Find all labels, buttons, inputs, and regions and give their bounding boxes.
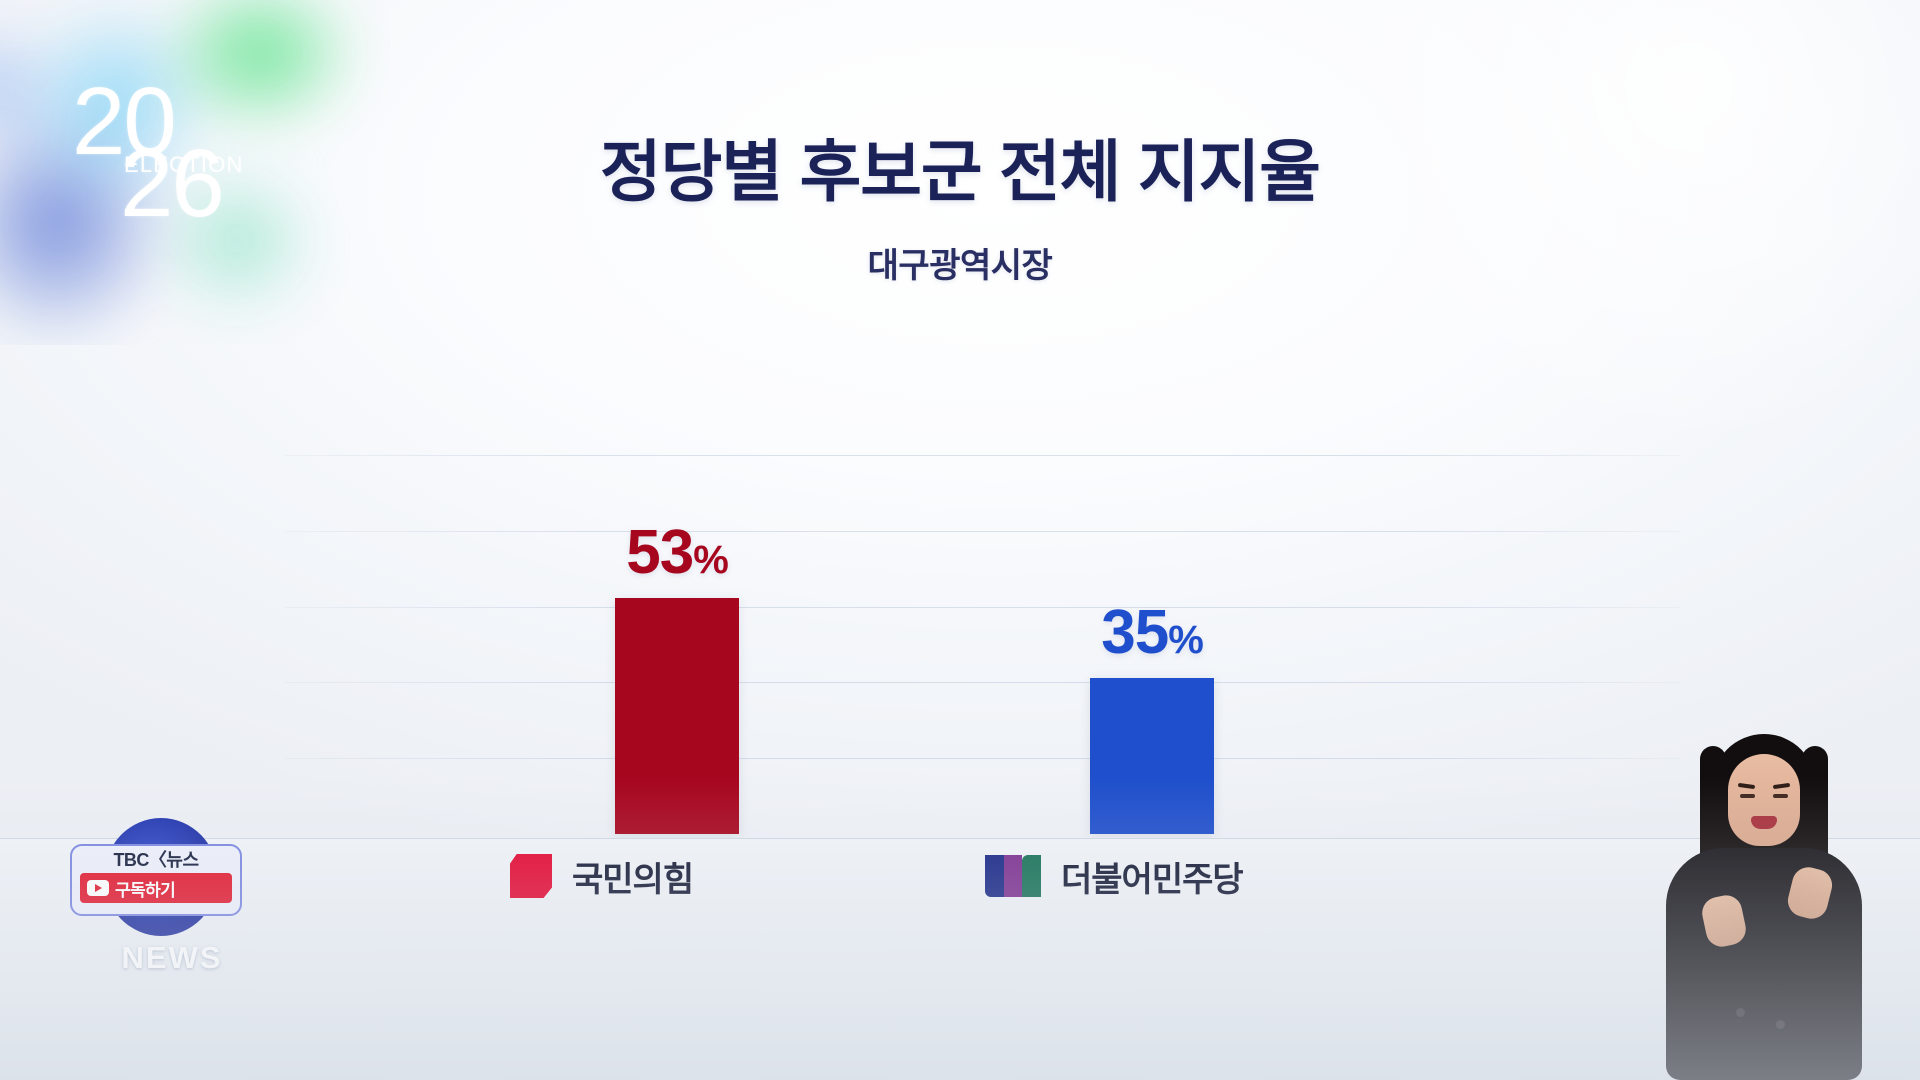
bar-value-label-ppp: 53% — [626, 522, 728, 584]
tbc-subscribe-card[interactable]: TBC〈뉴스 구독하기 — [70, 844, 242, 916]
legend-label-ppp: 국민의힘 — [572, 852, 693, 901]
chart-plot-area: 53% 35% — [285, 388, 1680, 834]
gridline — [285, 682, 1680, 683]
interpreter-torso — [1666, 848, 1862, 1080]
bar-column-dp — [1090, 678, 1214, 834]
legend-item-people-power-party: 국민의힘 — [510, 852, 693, 900]
news-label: NEWS — [62, 940, 282, 976]
sign-language-interpreter — [1646, 720, 1882, 1080]
gridline — [285, 607, 1680, 608]
dp-flag-stripe-purple — [1004, 855, 1023, 897]
gridline — [285, 758, 1680, 759]
dp-flag-stripe-blue — [985, 855, 1004, 897]
interpreter-eye-right — [1773, 794, 1788, 798]
chart-legend: 국민의힘 더불어민주당 — [285, 852, 1680, 912]
bar-column-ppp — [615, 598, 739, 834]
interpreter-button-two — [1776, 1020, 1785, 1029]
bar-value-label-dp: 35% — [1101, 602, 1203, 664]
broadcast-graphic-stage: 20 ELECTION 26 정당별 후보군 전체 지지율 대구광역시장 53%… — [0, 0, 1920, 1080]
ppp-party-logo-icon — [510, 854, 552, 898]
tbc-brand-label: TBC〈뉴스 — [80, 851, 232, 869]
dp-flag-stripe-green — [1022, 855, 1041, 897]
subscribe-label: 구독하기 — [115, 876, 175, 901]
interpreter-button-one — [1736, 1008, 1745, 1017]
legend-label-dp: 더불어민주당 — [1061, 852, 1243, 901]
chart-subtitle: 대구광역시장 — [0, 238, 1920, 287]
youtube-subscribe-button[interactable]: 구독하기 — [80, 873, 232, 903]
interpreter-eye-left — [1740, 794, 1755, 798]
legend-item-democratic-party: 더불어민주당 — [985, 852, 1243, 900]
gridline — [285, 455, 1680, 456]
interpreter-brow-right — [1773, 783, 1790, 789]
youtube-play-icon — [87, 880, 109, 896]
interpreter-face — [1728, 754, 1800, 846]
dp-party-logo-icon — [985, 855, 1041, 897]
gridline — [285, 531, 1680, 532]
tbc-news-watermark: TBC〈뉴스 구독하기 NEWS — [62, 812, 282, 1008]
chart-title: 정당별 후보군 전체 지지율 — [0, 118, 1920, 215]
interpreter-mouth — [1751, 816, 1777, 829]
interpreter-brow-left — [1738, 783, 1755, 789]
